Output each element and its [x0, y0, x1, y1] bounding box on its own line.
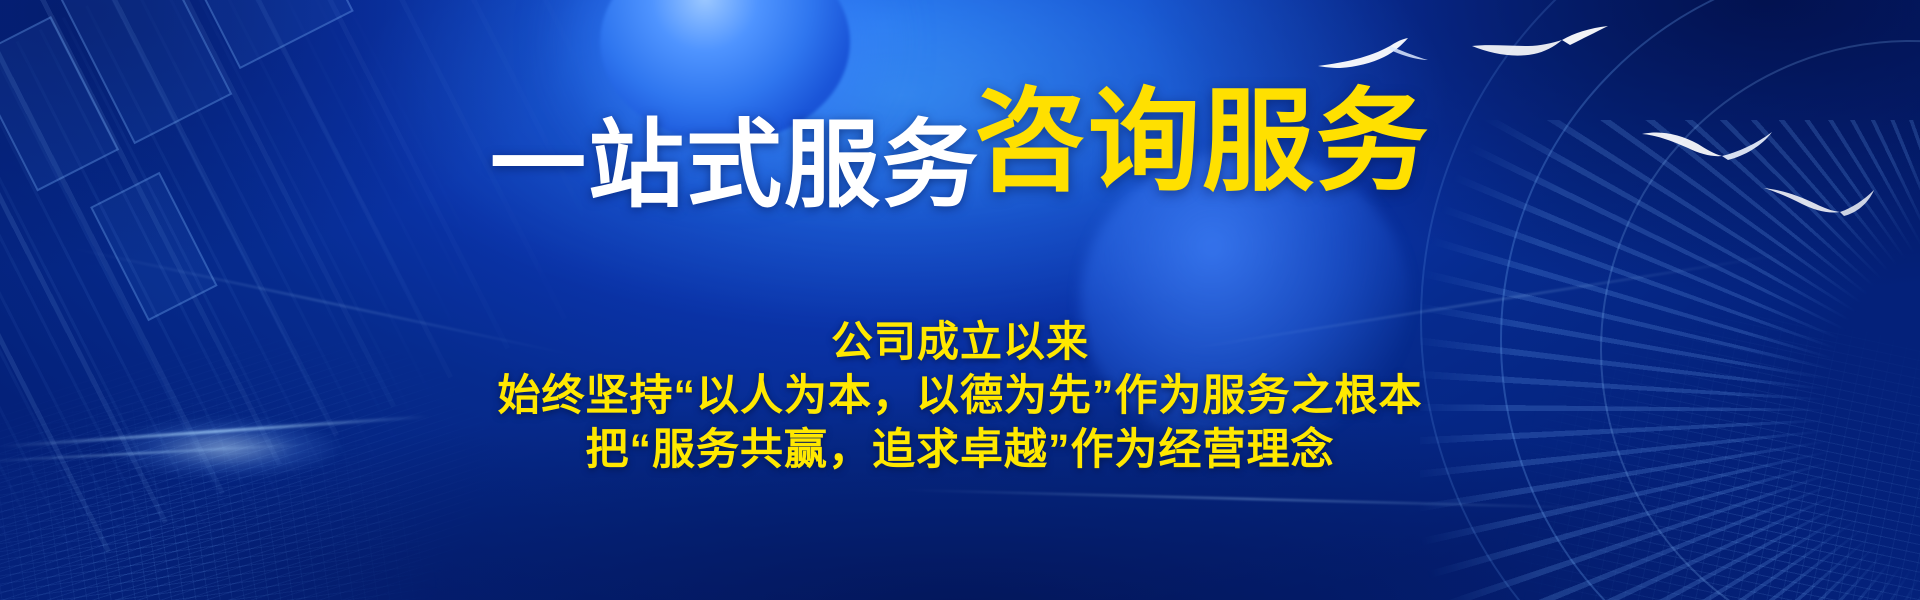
headline-accent: 咨询服务	[974, 79, 1430, 204]
body-line: 始终坚持“以人为本，以德为先”作为服务之根本	[0, 369, 1920, 423]
body-line: 把“服务共赢，追求卓越”作为经营理念	[0, 423, 1920, 477]
banner-content: 一站式服务咨询服务 公司成立以来 始终坚持“以人为本，以德为先”作为服务之根本 …	[0, 0, 1920, 600]
body-text: 公司成立以来 始终坚持“以人为本，以德为先”作为服务之根本 把“服务共赢，追求卓…	[0, 316, 1920, 477]
headline: 一站式服务咨询服务	[0, 86, 1920, 214]
promo-banner: 一站式服务咨询服务 公司成立以来 始终坚持“以人为本，以德为先”作为服务之根本 …	[0, 0, 1920, 600]
body-line: 公司成立以来	[0, 316, 1920, 369]
headline-primary: 一站式服务	[490, 112, 980, 219]
